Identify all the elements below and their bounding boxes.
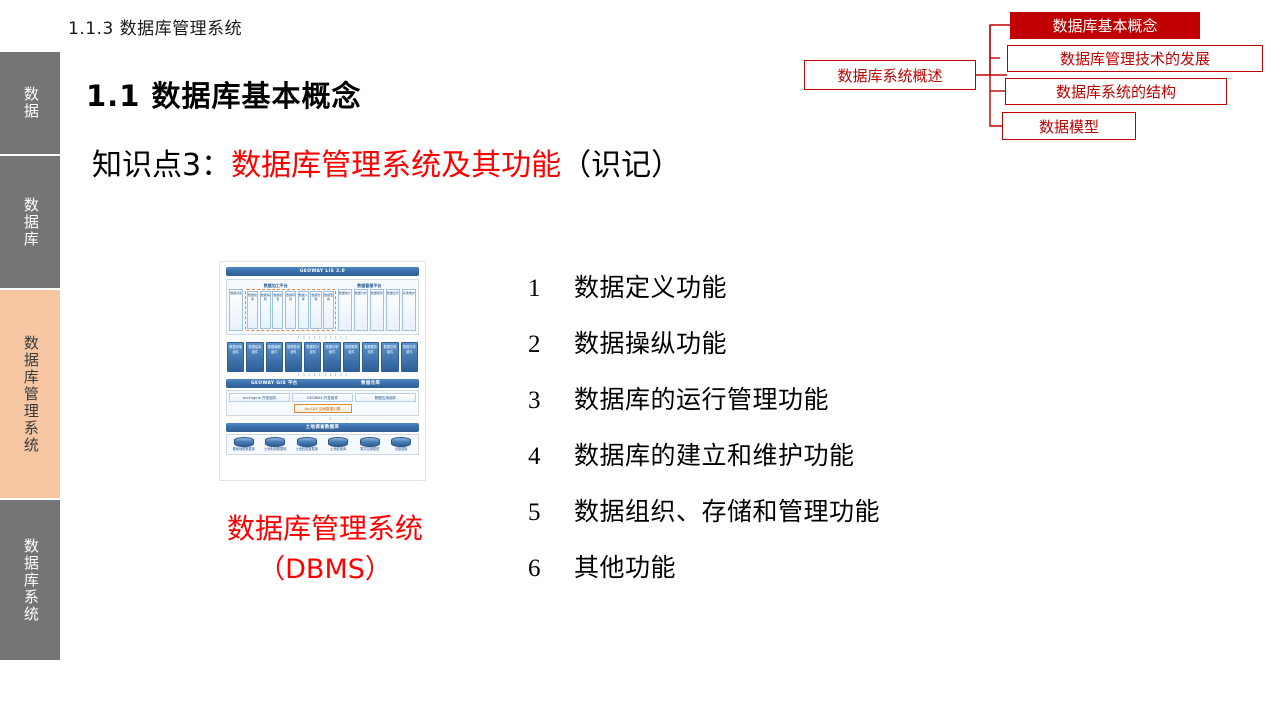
- diagram-db-label: 土地利用数据库: [261, 447, 291, 452]
- list-item: 4 数据库的建立和维护功能: [528, 436, 1048, 492]
- knowledge-point-highlight: 数据库管理系统及其功能: [231, 148, 561, 183]
- diagram-component: 数据分析组件: [323, 342, 340, 372]
- diagram-module-cell: 数据入库: [298, 291, 309, 329]
- sidebar-item-dbms[interactable]: 数据库管理系统: [0, 290, 60, 500]
- diagram-db-item: 基础地理数据库: [229, 437, 259, 452]
- diagram-component-row: 数据采集组件 数据建库组件 数据编辑组件 数据检查组件 数据统计组件 数据分析组…: [227, 342, 418, 372]
- diagram-gis-bar-left: GEOWAY GIS 平台: [226, 379, 323, 388]
- diagram-module-cell: 数据采集: [229, 289, 243, 331]
- diagram-db-item: 数字高程模型: [355, 437, 385, 452]
- list-item-number: 6: [528, 555, 574, 583]
- diagram-platform-label-processing: 数据加工平台: [229, 282, 323, 289]
- diagram-component: 数据交换组件: [381, 342, 398, 372]
- database-cylinder-icon: [297, 437, 317, 447]
- diagram-db-label: 元数据库: [387, 447, 417, 452]
- diagram-component: 数据服务组件: [362, 342, 379, 372]
- knowledge-point-suffix: （识记）: [561, 148, 681, 183]
- function-list: 1 数据定义功能 2 数据操纵功能 3 数据库的运行管理功能 4 数据库的建立和…: [528, 268, 1048, 604]
- list-item: 6 其他功能: [528, 548, 1048, 604]
- breadcrumb: 1.1.3 数据库管理系统: [68, 14, 242, 39]
- diagram-module-cell: 数据检查: [272, 291, 283, 329]
- diagram-software-item: ArcEngine 开发组件: [229, 393, 290, 402]
- diagram-component: 数据统计组件: [304, 342, 321, 372]
- diagram-component: 数据共享组件: [401, 342, 418, 372]
- diagram-platform-panel: 数据加工平台 数据管理平台 数据采集 数据建库 数据编辑 数据检查 数据转换 数…: [226, 279, 419, 335]
- diagram-db-item: 土地权属数据库: [292, 437, 322, 452]
- diagram-db-item: 土地影像库: [324, 437, 354, 452]
- mindmap-node-system-structure[interactable]: 数据库系统的结构: [1005, 78, 1227, 105]
- diagram-component: 数据更新组件: [343, 342, 360, 372]
- list-item: 2 数据操纵功能: [528, 324, 1048, 380]
- diagram-db-label: 土地权属数据库: [292, 447, 322, 452]
- diagram-db-label: 土地影像库: [324, 447, 354, 452]
- sidebar-nav: 数据 数据库 数据库管理系统 数据库系统: [0, 52, 60, 660]
- diagram-db-label: 基础地理数据库: [229, 447, 259, 452]
- diagram-component: 数据编辑组件: [266, 342, 283, 372]
- knowledge-point-prefix: 知识点3：: [92, 148, 231, 183]
- database-cylinder-icon: [328, 437, 348, 447]
- diagram-module-cell: 数据编辑: [260, 291, 271, 329]
- diagram-module-dashed-group: 数据建库 数据编辑 数据检查 数据转换 数据入库 数据管理 数据更新: [245, 289, 336, 331]
- list-item-number: 3: [528, 387, 574, 415]
- diagram-database-bar: 土地调查数据库: [226, 423, 419, 432]
- mindmap-node-tech-development[interactable]: 数据库管理技术的发展: [1007, 45, 1263, 72]
- list-item: 1 数据定义功能: [528, 268, 1048, 324]
- diagram-component: 数据采集组件: [227, 342, 244, 372]
- diagram-module-cell: 数据统计: [338, 289, 352, 331]
- sidebar-item-label: 数据: [22, 86, 38, 120]
- diagram-platform-label-management: 数据管理平台: [323, 282, 417, 289]
- database-cylinder-icon: [234, 437, 254, 447]
- diagram-module-cell: 数据分析: [354, 289, 368, 331]
- page-title: 1.1 数据库基本概念: [86, 73, 361, 115]
- sidebar-item-database[interactable]: 数据库: [0, 156, 60, 290]
- diagram-db-item: 元数据库: [387, 437, 417, 452]
- figure-caption-line-2: （DBMS）: [150, 550, 500, 590]
- sidebar-item-label: 数据库: [22, 197, 38, 248]
- diagram-software-item: GEOWAY 开发组件: [292, 393, 353, 402]
- diagram-spatial-engine: ArcSDE 空间数据引擎: [294, 404, 352, 413]
- list-item-number: 2: [528, 331, 574, 359]
- diagram-db-item: 土地利用数据库: [261, 437, 291, 452]
- list-item-number: 4: [528, 443, 574, 471]
- diagram-module-cell: 数据服务: [370, 289, 384, 331]
- dbms-architecture-diagram: GEOWAY LIS 2.0 数据加工平台 数据管理平台 数据采集 数据建库 数…: [219, 261, 426, 481]
- diagram-module-cell: 数据转换: [285, 291, 296, 329]
- mindmap-node-basic-concepts[interactable]: 数据库基本概念: [1010, 12, 1200, 39]
- database-cylinder-icon: [391, 437, 411, 447]
- diagram-software-item: 数据应用组件: [355, 393, 416, 402]
- slide-canvas: 1.1.3 数据库管理系统 数据 数据库 数据库管理系统 数据库系统 1.1 数…: [0, 0, 1280, 720]
- database-cylinder-icon: [265, 437, 285, 447]
- knowledge-point-line: 知识点3：数据库管理系统及其功能（识记）: [92, 140, 681, 184]
- diagram-database-panel: 基础地理数据库 土地利用数据库 土地权属数据库 土地影像库 数字高程模型 元数据…: [226, 434, 419, 455]
- sidebar-item-label: 数据库管理系统: [22, 335, 38, 454]
- list-item-label: 数据组织、存储和管理功能: [574, 492, 880, 528]
- list-item-label: 数据定义功能: [574, 268, 727, 304]
- diagram-component: 数据检查组件: [285, 342, 302, 372]
- diagram-db-label: 数字高程模型: [355, 447, 385, 452]
- diagram-module-cell: 数据建库: [247, 291, 258, 329]
- diagram-arrow-row: ↕ ↕ ↕ ↕ ↕ ↕ ↕ ↕ ↕ ↕: [220, 335, 425, 341]
- diagram-module-cell: 数据管理: [310, 291, 321, 329]
- database-cylinder-icon: [360, 437, 380, 447]
- list-item-label: 数据库的运行管理功能: [574, 380, 829, 416]
- mindmap: 数据库系统概述 数据库基本概念 数据库管理技术的发展 数据库系统的结构 数据模型: [800, 4, 1278, 154]
- list-item-number: 1: [528, 275, 574, 303]
- diagram-gis-bar-right: 数据仓库: [323, 379, 420, 388]
- diagram-module-cell: 数据更新: [323, 291, 334, 329]
- list-item: 5 数据组织、存储和管理功能: [528, 492, 1048, 548]
- diagram-top-bar: GEOWAY LIS 2.0: [226, 267, 419, 276]
- figure-caption-line-1: 数据库管理系统: [150, 508, 500, 550]
- diagram-component: 数据建库组件: [246, 342, 263, 372]
- list-item-label: 数据操纵功能: [574, 324, 727, 360]
- list-item-label: 其他功能: [574, 548, 676, 584]
- figure-caption: 数据库管理系统 （DBMS）: [150, 508, 500, 590]
- sidebar-item-label: 数据库系统: [22, 538, 38, 623]
- sidebar-item-database-system[interactable]: 数据库系统: [0, 500, 60, 660]
- mindmap-node-data-model[interactable]: 数据模型: [1002, 112, 1136, 140]
- diagram-arrow-row: ↕ ↕ ↕ ↕ ↕ ↕ ↕ ↕ ↕ ↕: [220, 372, 425, 378]
- list-item: 3 数据库的运行管理功能: [528, 380, 1048, 436]
- sidebar-item-data[interactable]: 数据: [0, 52, 60, 156]
- list-item-label: 数据库的建立和维护功能: [574, 436, 855, 472]
- mindmap-root-node[interactable]: 数据库系统概述: [804, 60, 976, 90]
- diagram-arrow-row: ↕↕↕: [220, 416, 425, 422]
- diagram-gis-bar: GEOWAY GIS 平台 数据仓库: [226, 379, 419, 388]
- list-item-number: 5: [528, 499, 574, 527]
- diagram-module-cell: 系统维护: [402, 289, 416, 331]
- diagram-module-cell: 数据监管: [386, 289, 400, 331]
- diagram-software-panel: ArcEngine 开发组件 GEOWAY 开发组件 数据应用组件 ArcSDE…: [226, 390, 419, 416]
